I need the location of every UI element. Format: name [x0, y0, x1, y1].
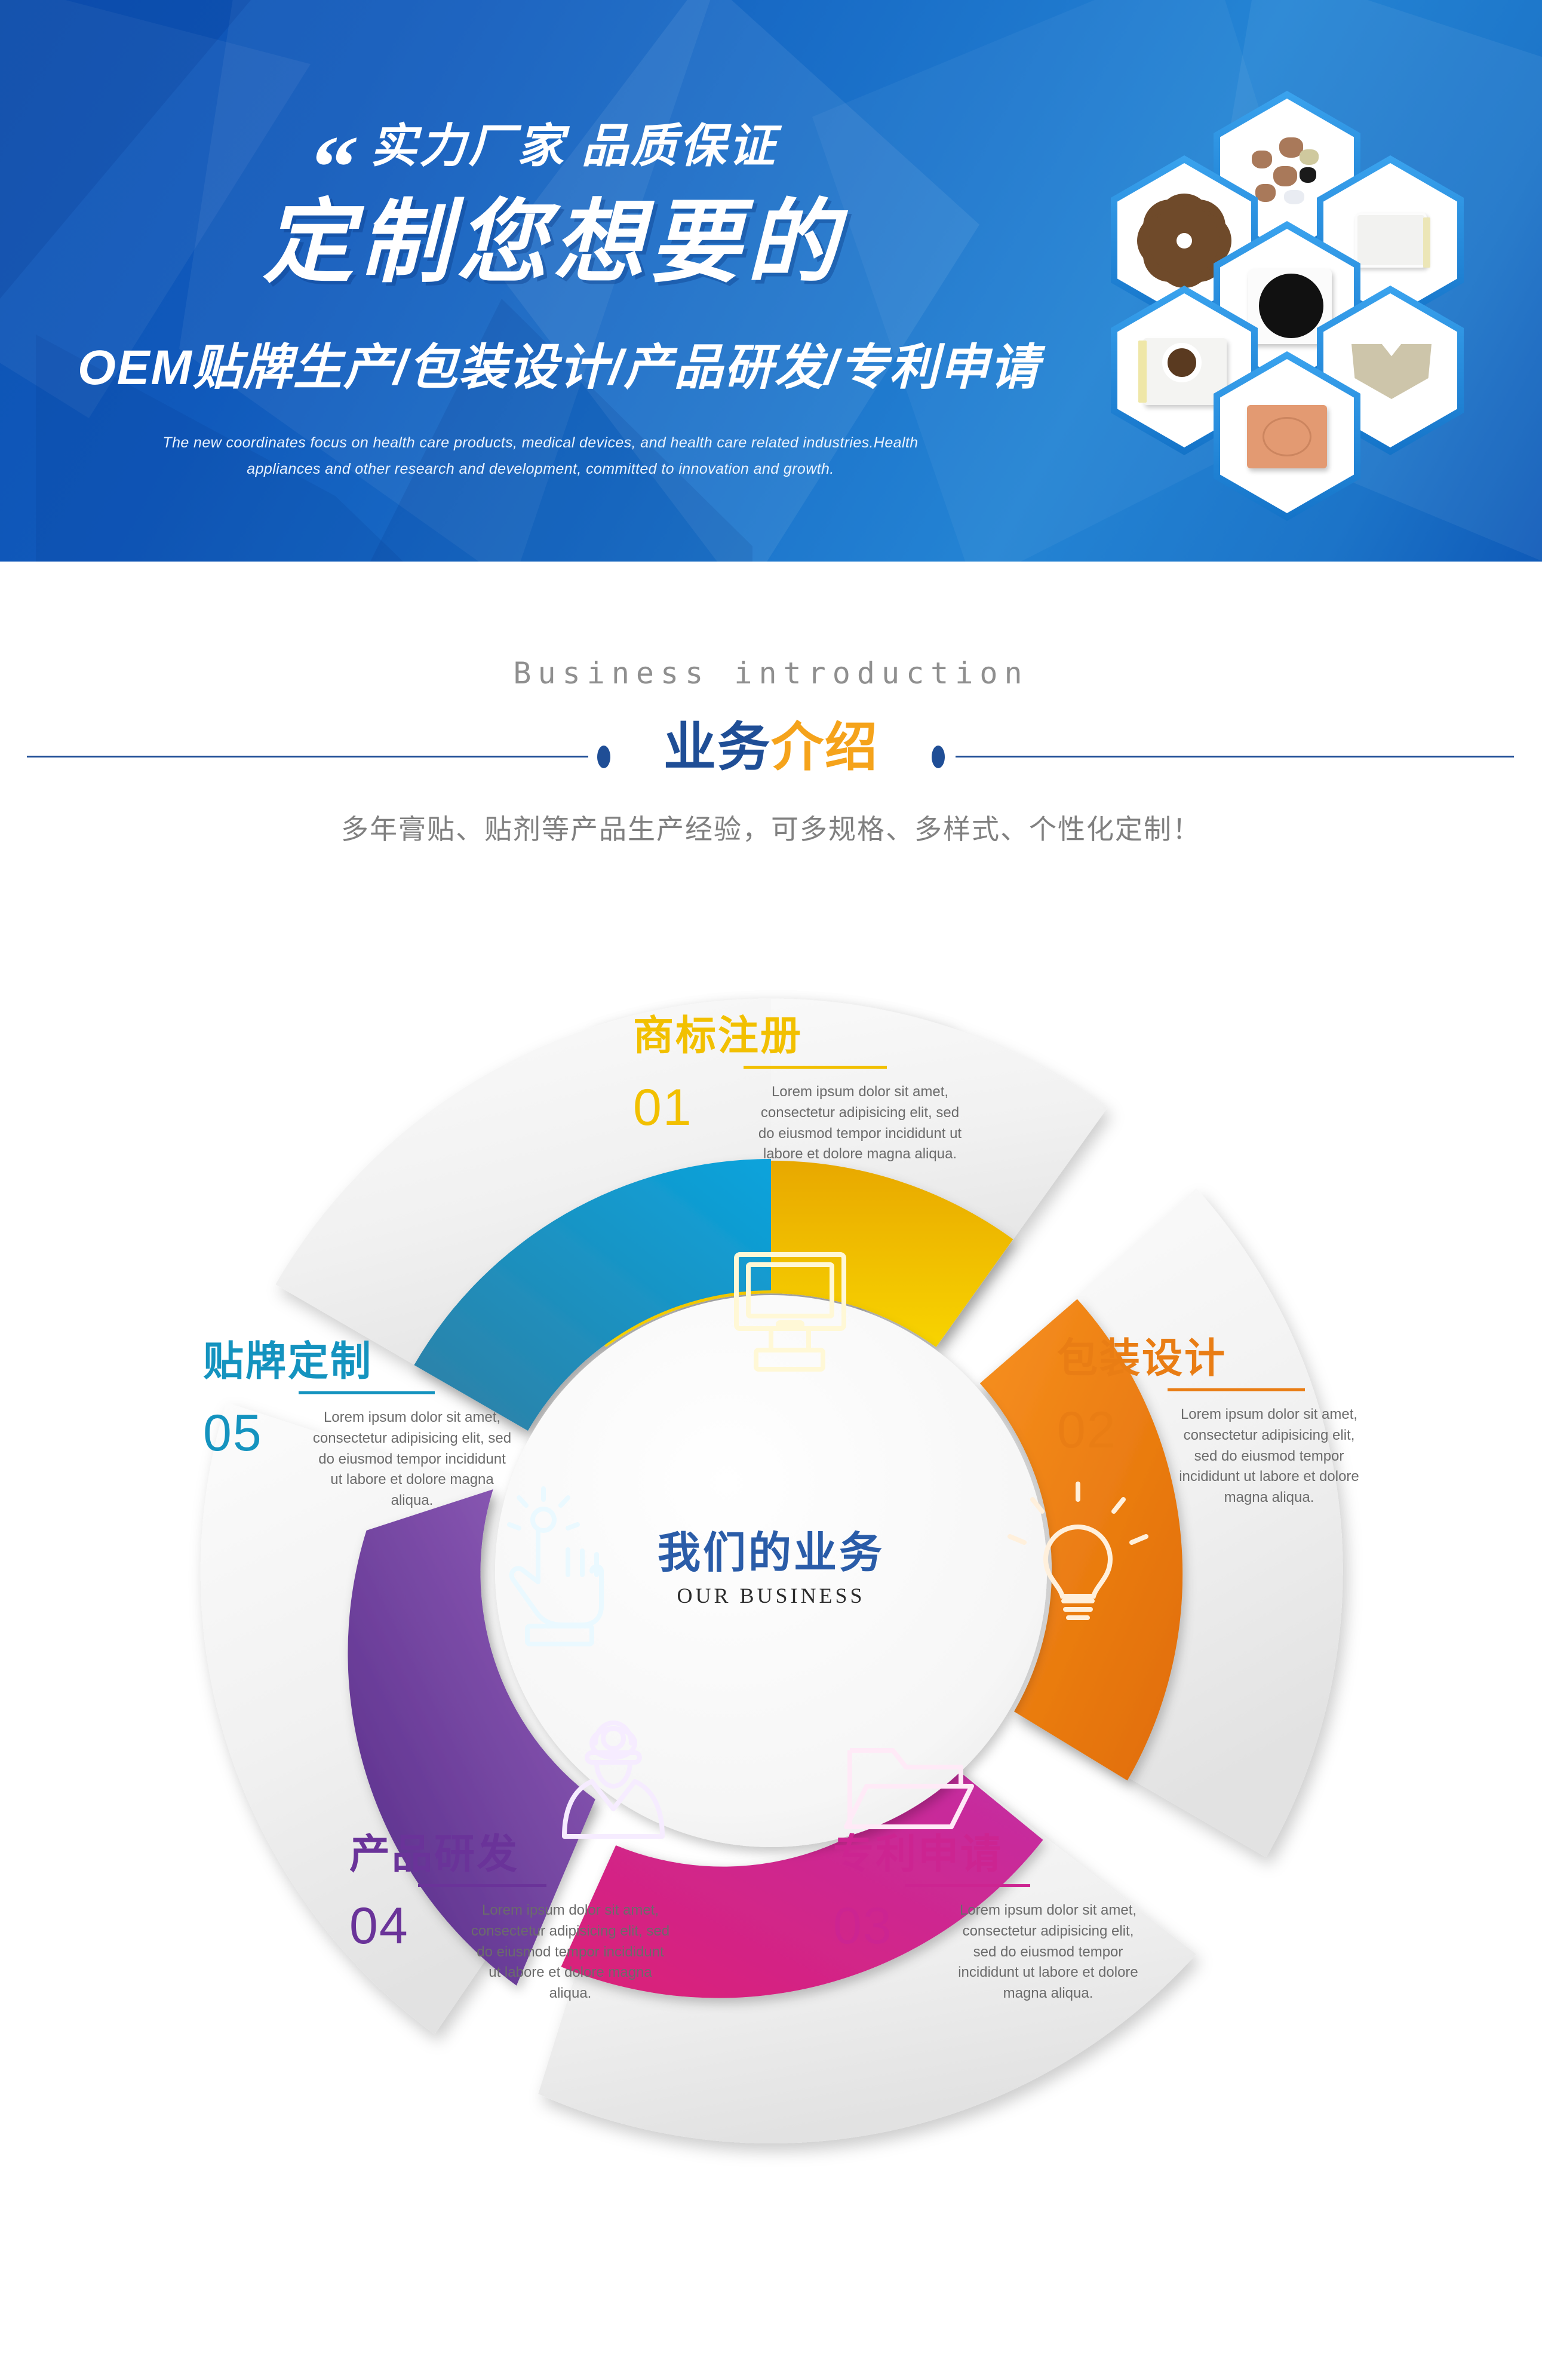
- segment-number-03: 03: [833, 1900, 953, 1952]
- diagram-center-subtitle: OUR BUSINESS: [0, 1583, 1542, 1608]
- segment-body-01: Lorem ipsum dolor sit amet, consectetur …: [752, 1082, 967, 1165]
- banner-headline: 定制您想要的: [263, 197, 843, 288]
- diagram-center-title: 我们的业务: [0, 1517, 1542, 1580]
- segment-title-05: 贴牌定制: [203, 1341, 514, 1382]
- segment-underline-02: [1168, 1388, 1305, 1391]
- page-title-part2: 介绍: [771, 717, 878, 777]
- segment-underline-04: [418, 1884, 546, 1887]
- segment-number-05: 05: [203, 1407, 311, 1459]
- segment-body-05: Lorem ipsum dolor sit amet, consectetur …: [311, 1407, 514, 1511]
- page-title-part1: 业务: [664, 717, 771, 777]
- segment-underline-03: [905, 1884, 1030, 1887]
- segment-body-03: Lorem ipsum dolor sit amet, consectetur …: [953, 1900, 1144, 2004]
- banner-services-line: OEM贴牌生产/包装设计/产品研发/专利申请: [78, 343, 1040, 392]
- segment-title-01: 商标注册: [633, 1016, 967, 1056]
- segment-underline-01: [744, 1066, 887, 1069]
- section-subtitle: 多年膏贴、贴剂等产品生产经验，可多规格、多样式、个性化定制！: [0, 808, 1542, 847]
- section-english-title: Business introduction: [0, 656, 1542, 691]
- page-title: 业务介绍: [0, 717, 1542, 777]
- segment-title-02: 包装设计: [1057, 1338, 1368, 1379]
- segment-number-02: 02: [1057, 1404, 1171, 1456]
- product-hexagon-cluster: [1087, 78, 1529, 556]
- segment-number-04: 04: [349, 1900, 469, 1952]
- segment-label-05[interactable]: 贴牌定制 05 Lorem ipsum dolor sit amet, cons…: [203, 1341, 514, 1511]
- tan-patch-image: [1242, 394, 1332, 478]
- segment-label-01[interactable]: 商标注册 01 Lorem ipsum dolor sit amet, cons…: [633, 1016, 967, 1165]
- segment-label-03[interactable]: 专利申请 03 Lorem ipsum dolor sit amet, cons…: [833, 1834, 1144, 2004]
- banner-tagline: 实力厂家 品质保证: [370, 122, 778, 169]
- segment-label-04[interactable]: 产品研发 04 Lorem ipsum dolor sit amet, cons…: [349, 1834, 672, 2004]
- segment-label-02[interactable]: 包装设计 02 Lorem ipsum dolor sit amet, cons…: [1057, 1338, 1368, 1508]
- hero-banner: “ 实力厂家 品质保证 定制您想要的 OEM贴牌生产/包装设计/产品研发/专利申…: [0, 0, 1542, 562]
- segment-number-01: 01: [633, 1082, 752, 1133]
- page-root: “ 实力厂家 品质保证 定制您想要的 OEM贴牌生产/包装设计/产品研发/专利申…: [0, 0, 1542, 2380]
- segment-body-02: Lorem ipsum dolor sit amet, consectetur …: [1171, 1404, 1368, 1508]
- segment-title-04: 产品研发: [349, 1834, 672, 1875]
- banner-english-description: The new coordinates focus on health care…: [152, 430, 929, 483]
- segment-underline-05: [299, 1391, 435, 1394]
- segment-title-03: 专利申请: [833, 1834, 1144, 1875]
- segment-body-04: Lorem ipsum dolor sit amet, consectetur …: [469, 1900, 672, 2004]
